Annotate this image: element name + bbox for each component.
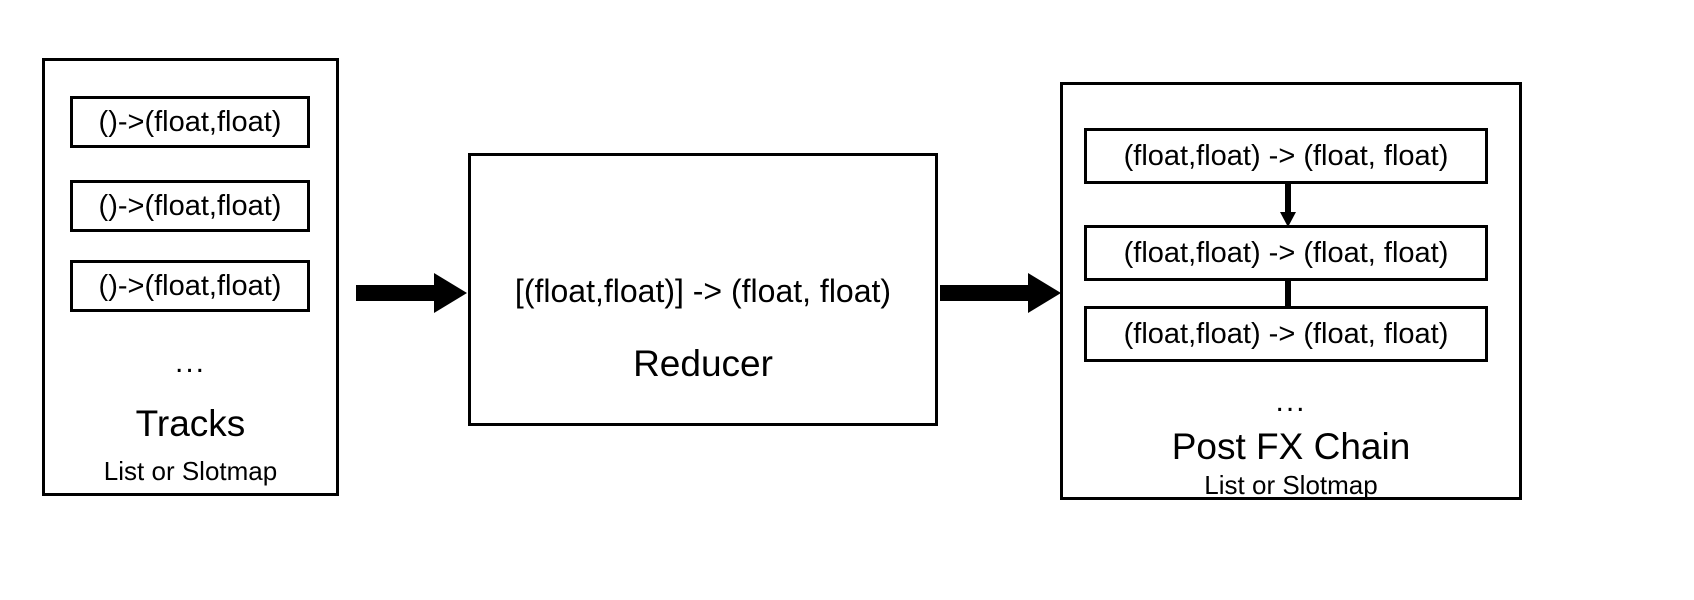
- track-signature-box-3[interactable]: ()->(float,float): [70, 260, 310, 312]
- arrow-tracks-to-reducer: [356, 272, 468, 314]
- tracks-caption: Tracks: [42, 405, 339, 442]
- track-signature-label-3: ()->(float,float): [99, 272, 282, 301]
- track-signature-label-2: ()->(float,float): [99, 192, 282, 221]
- postfx-ellipsis: ...: [1060, 387, 1522, 417]
- reducer-signature: [(float,float)] -> (float, float): [468, 275, 938, 307]
- postfx-subcaption: List or Slotmap: [1060, 472, 1522, 498]
- postfx-signature-label-1: (float,float) -> (float, float): [1124, 142, 1449, 171]
- tracks-ellipsis: ...: [42, 348, 339, 378]
- postfx-signature-label-2: (float,float) -> (float, float): [1124, 239, 1449, 268]
- postfx-signature-box-3[interactable]: (float,float) -> (float, float): [1084, 306, 1488, 362]
- track-signature-label-1: ()->(float,float): [99, 108, 282, 137]
- diagram-canvas: ()->(float,float) ()->(float,float) ()->…: [0, 0, 1694, 600]
- reducer-title: Reducer: [468, 345, 938, 382]
- tracks-subcaption: List or Slotmap: [42, 458, 339, 484]
- track-signature-box-2[interactable]: ()->(float,float): [70, 180, 310, 232]
- postfx-signature-box-2[interactable]: (float,float) -> (float, float): [1084, 225, 1488, 281]
- arrow-reducer-to-postfx: [940, 272, 1062, 314]
- postfx-caption: Post FX Chain: [1060, 428, 1522, 465]
- track-signature-box-1[interactable]: ()->(float,float): [70, 96, 310, 148]
- postfx-chain-arrow-1: [1277, 182, 1299, 228]
- postfx-signature-label-3: (float,float) -> (float, float): [1124, 320, 1449, 349]
- postfx-signature-box-1[interactable]: (float,float) -> (float, float): [1084, 128, 1488, 184]
